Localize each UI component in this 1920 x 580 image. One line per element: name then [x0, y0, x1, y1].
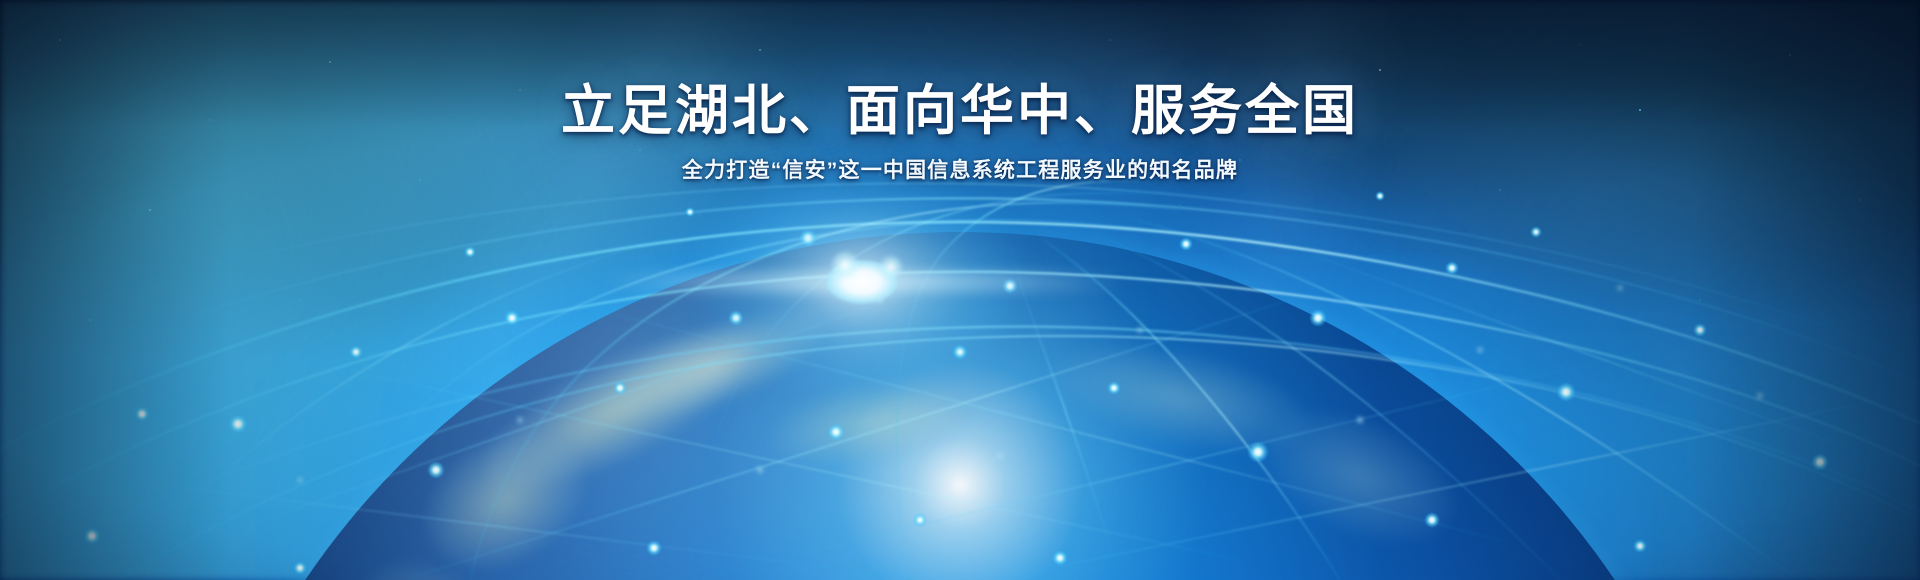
banner-headline: 立足湖北、面向华中、服务全国	[0, 80, 1920, 143]
banner-subheadline: 全力打造“信安”这一中国信息系统工程服务业的知名品牌	[0, 157, 1920, 184]
flare-spark-left	[832, 252, 858, 278]
banner-copy: 立足湖北、面向华中、服务全国 全力打造“信安”这一中国信息系统工程服务业的知名品…	[0, 80, 1920, 184]
flare-spark-right	[880, 256, 902, 278]
hero-banner: 立足湖北、面向华中、服务全国 全力打造“信安”这一中国信息系统工程服务业的知名品…	[0, 0, 1920, 580]
